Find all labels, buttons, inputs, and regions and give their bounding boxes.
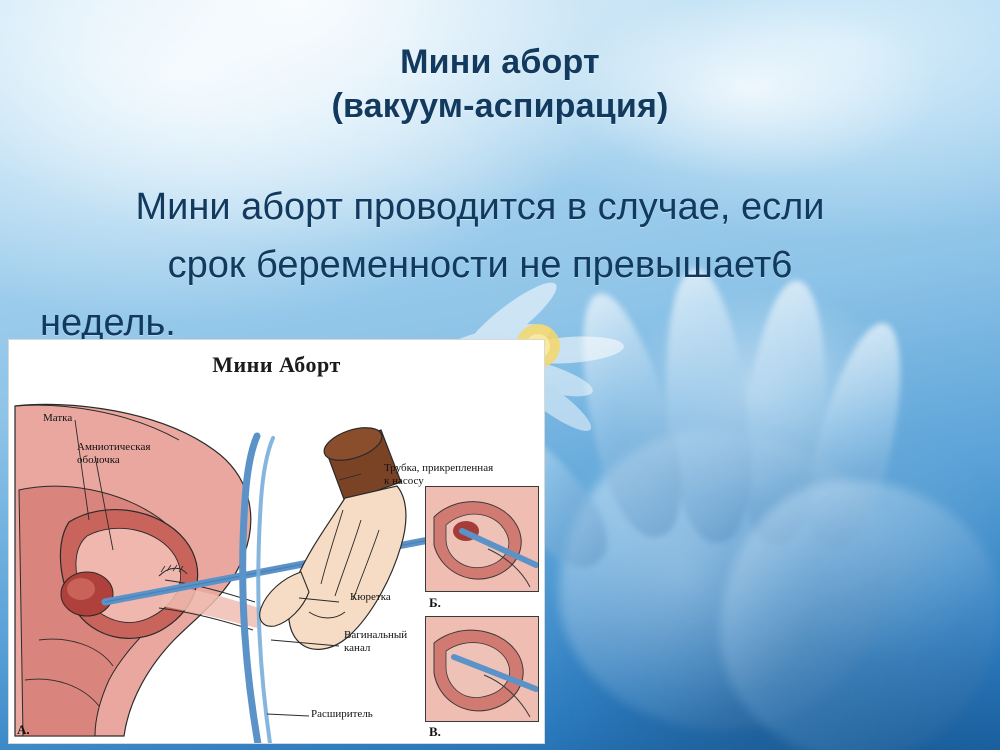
- label-tube-to-pump: Трубка, прикрепленная к насосу: [384, 462, 534, 488]
- label-uterus: Матка: [43, 412, 72, 425]
- title-line-1: Мини аборт: [0, 40, 1000, 84]
- body-line-2: срок беременности не превышает6: [40, 236, 920, 294]
- panel-letter-a: А.: [17, 722, 30, 738]
- body-text: Мини аборт проводится в случае, если сро…: [40, 178, 920, 352]
- label-vaginal-canal: Вагинальный канал: [344, 629, 436, 655]
- label-vaginal-line-1: Вагинальный: [344, 629, 407, 641]
- gloved-hand: [260, 421, 406, 649]
- body-line-1: Мини аборт проводится в случае, если: [136, 186, 825, 228]
- label-amniotic-line-1: Амниотическая: [77, 441, 150, 453]
- panel-letter-v: В.: [429, 724, 441, 740]
- diagram-image: Мини Аборт: [8, 339, 545, 744]
- label-tube-line-1: Трубка, прикрепленная: [384, 462, 493, 474]
- inset-panel-b: [425, 486, 539, 592]
- label-amniotic-membrane: Амниотическая оболочка: [77, 441, 169, 467]
- label-dilator: Расширитель: [311, 708, 373, 721]
- label-tube-line-2: к насосу: [384, 475, 424, 487]
- inset-panel-v: [425, 616, 539, 722]
- label-curette: Кюретка: [350, 591, 391, 604]
- panel-letter-b: Б.: [429, 595, 441, 611]
- title-line-2: (вакуум-аспирация): [0, 84, 1000, 128]
- label-amniotic-line-2: оболочка: [77, 454, 120, 466]
- slide: Мини аборт (вакуум-аспирация) Мини аборт…: [0, 0, 1000, 750]
- label-vaginal-line-2: канал: [344, 642, 370, 654]
- page-title: Мини аборт (вакуум-аспирация): [0, 40, 1000, 128]
